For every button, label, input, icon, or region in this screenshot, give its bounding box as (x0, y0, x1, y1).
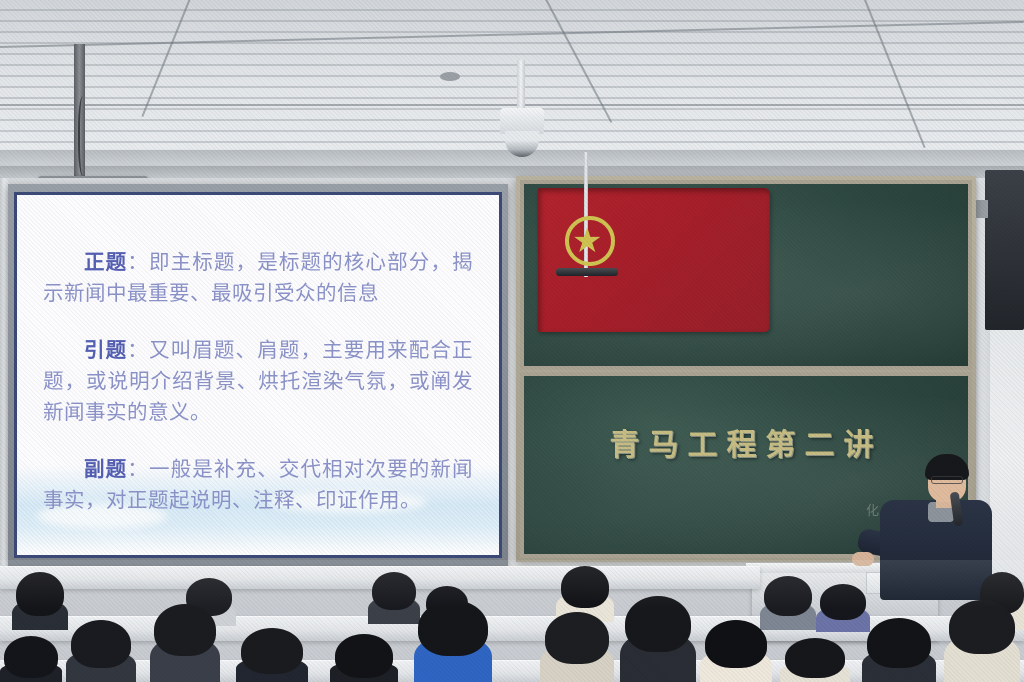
slide-separator-1: ： (127, 250, 149, 274)
student-silhouette (66, 620, 136, 682)
student-silhouette (620, 596, 696, 682)
student-head (154, 604, 216, 656)
slide-paragraph-2: 引题：又叫眉题、肩题，主要用来配合正题，或说明介绍背景、烘托渲染气氛，或阐发新闻… (43, 335, 473, 428)
blackboard-faint-chalk: 化 (866, 500, 879, 519)
student-silhouette (368, 572, 420, 624)
blackboard-title: 青马工程第二讲 (520, 420, 972, 464)
camera-stem (517, 60, 525, 112)
slide-separator-3: ： (127, 457, 149, 481)
student-head (625, 596, 691, 652)
student-head (71, 620, 131, 668)
student-head (16, 572, 64, 616)
student-silhouette (862, 618, 936, 682)
student-head (705, 620, 767, 668)
student-silhouette (414, 600, 492, 682)
student-silhouette (540, 612, 614, 682)
slide-separator-2: ： (127, 338, 149, 362)
monitor-bracket (976, 200, 988, 218)
glasses-icon (931, 476, 963, 484)
ceiling-vent (440, 72, 460, 81)
student-head (335, 634, 393, 678)
student-silhouette (780, 638, 850, 682)
student-silhouette (330, 634, 398, 682)
lecturer-hand (852, 552, 874, 566)
ceiling-seam (0, 104, 1024, 106)
student-head (418, 600, 488, 656)
student-silhouette (236, 628, 308, 682)
slide-key-term-1: 正题 (84, 250, 127, 274)
projector-cable (78, 96, 90, 176)
student-silhouette (12, 572, 68, 630)
student-head (867, 618, 931, 668)
student-head (764, 576, 812, 616)
wall-mounted-display (985, 170, 1024, 330)
projection-screen[interactable]: 正题：即主标题，是标题的核心部分，揭示新闻中最重要、最吸引受众的信息 引题：又叫… (14, 192, 502, 558)
flag-clip (556, 268, 618, 276)
student-silhouette (944, 600, 1020, 682)
student-head (545, 612, 609, 664)
student-silhouette (150, 604, 220, 682)
slide-paragraph-1: 正题：即主标题，是标题的核心部分，揭示新闻中最重要、最吸引受众的信息 (43, 247, 473, 309)
student-head (949, 600, 1015, 654)
student-head (820, 584, 866, 620)
slide-content: 正题：即主标题，是标题的核心部分，揭示新闻中最重要、最吸引受众的信息 引题：又叫… (17, 195, 499, 555)
student-silhouette (0, 636, 62, 682)
student-head (241, 628, 303, 674)
star-icon: ★ (572, 224, 602, 258)
student-head (372, 572, 416, 610)
student-head (561, 566, 609, 608)
student-head (4, 636, 58, 678)
slide-key-term-2: 引题 (84, 338, 127, 362)
classroom-scene: 正题：即主标题，是标题的核心部分，揭示新闻中最重要、最吸引受众的信息 引题：又叫… (0, 0, 1024, 682)
slide-key-term-3: 副题 (84, 457, 127, 481)
student-silhouette (700, 620, 772, 682)
slide-paragraph-3: 副题：一般是补充、交代相对次要的新闻事实，对正题起说明、注释、印证作用。 (43, 454, 473, 516)
student-head (785, 638, 845, 678)
